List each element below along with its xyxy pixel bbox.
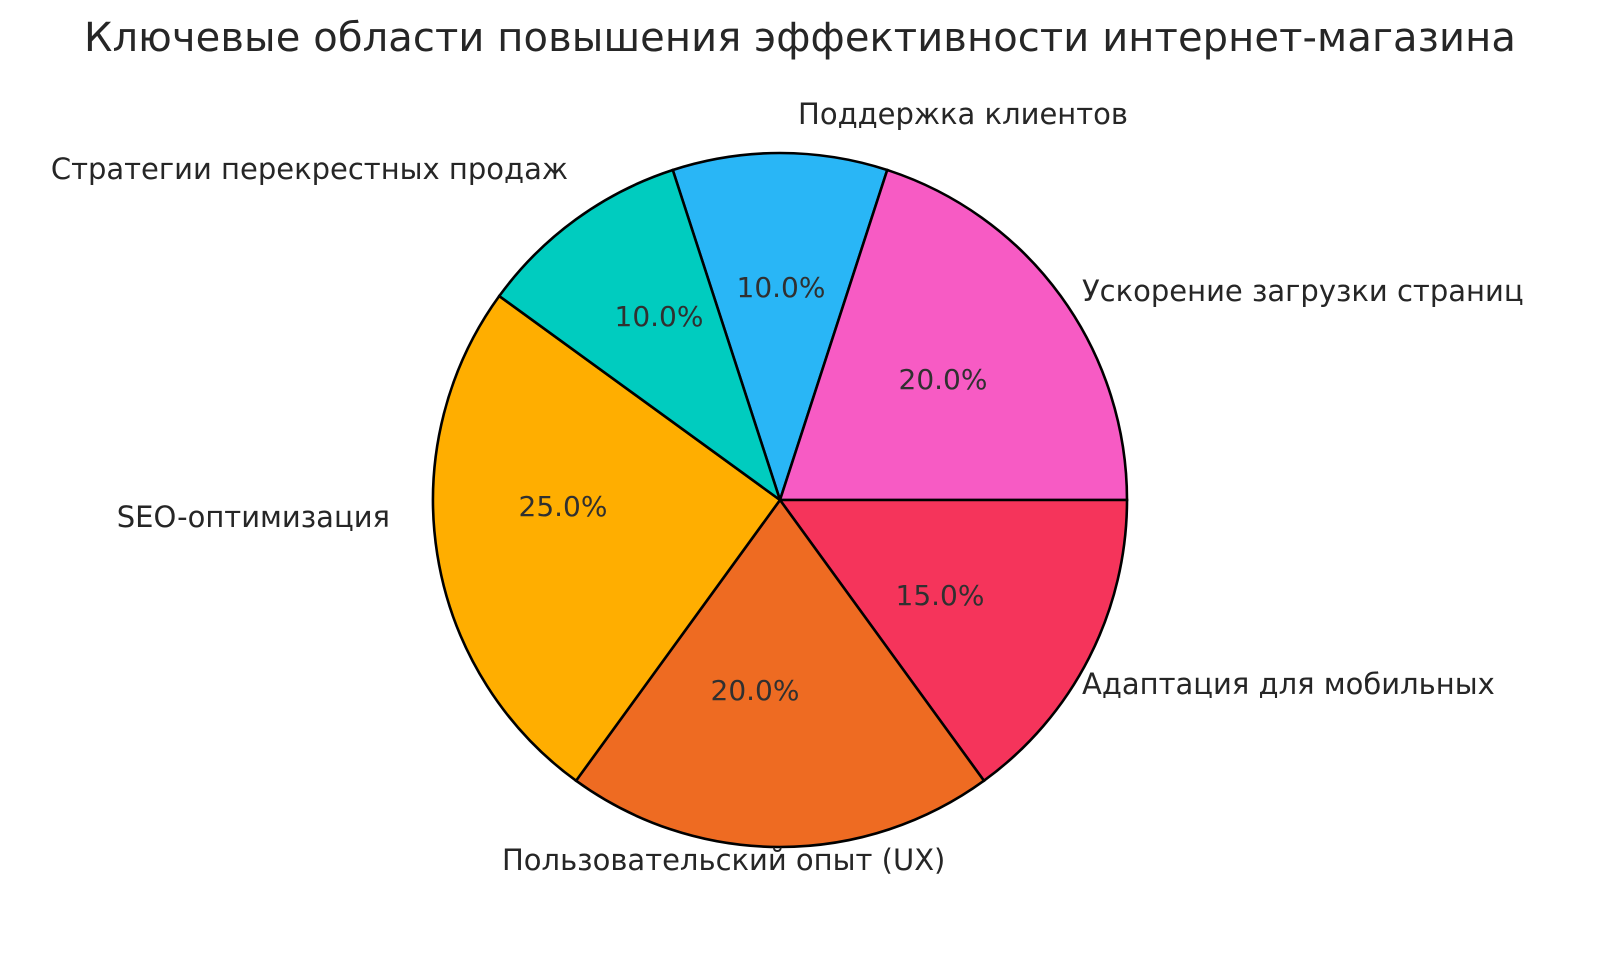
pie-chart-canvas: 10.0%20.0%15.0%20.0%25.0%10.0% Поддержка… <box>0 0 1600 954</box>
pie-slice-label: Ускорение загрузки страниц <box>1082 274 1524 308</box>
pie-slice-percent: 15.0% <box>896 579 985 612</box>
pie-slice-percent: 20.0% <box>711 674 800 707</box>
pie-slice-percent: 10.0% <box>737 271 826 304</box>
chart-figure: Ключевые области повышения эффективности… <box>0 0 1600 954</box>
pie-slice-label: SEO-оптимизация <box>117 500 390 534</box>
pie-slice-label: Поддержка клиентов <box>798 97 1128 131</box>
pie-slice-percent: 25.0% <box>519 490 608 523</box>
pie-slice-label: Стратегии перекрестных продаж <box>51 152 568 186</box>
pie-slice-percent: 10.0% <box>615 300 704 333</box>
pie-slice-label: Адаптация для мобильных <box>1082 667 1495 701</box>
pie-slice-label: Пользовательский опыт (UX) <box>502 843 945 877</box>
pie-slice-percent: 20.0% <box>899 363 988 396</box>
